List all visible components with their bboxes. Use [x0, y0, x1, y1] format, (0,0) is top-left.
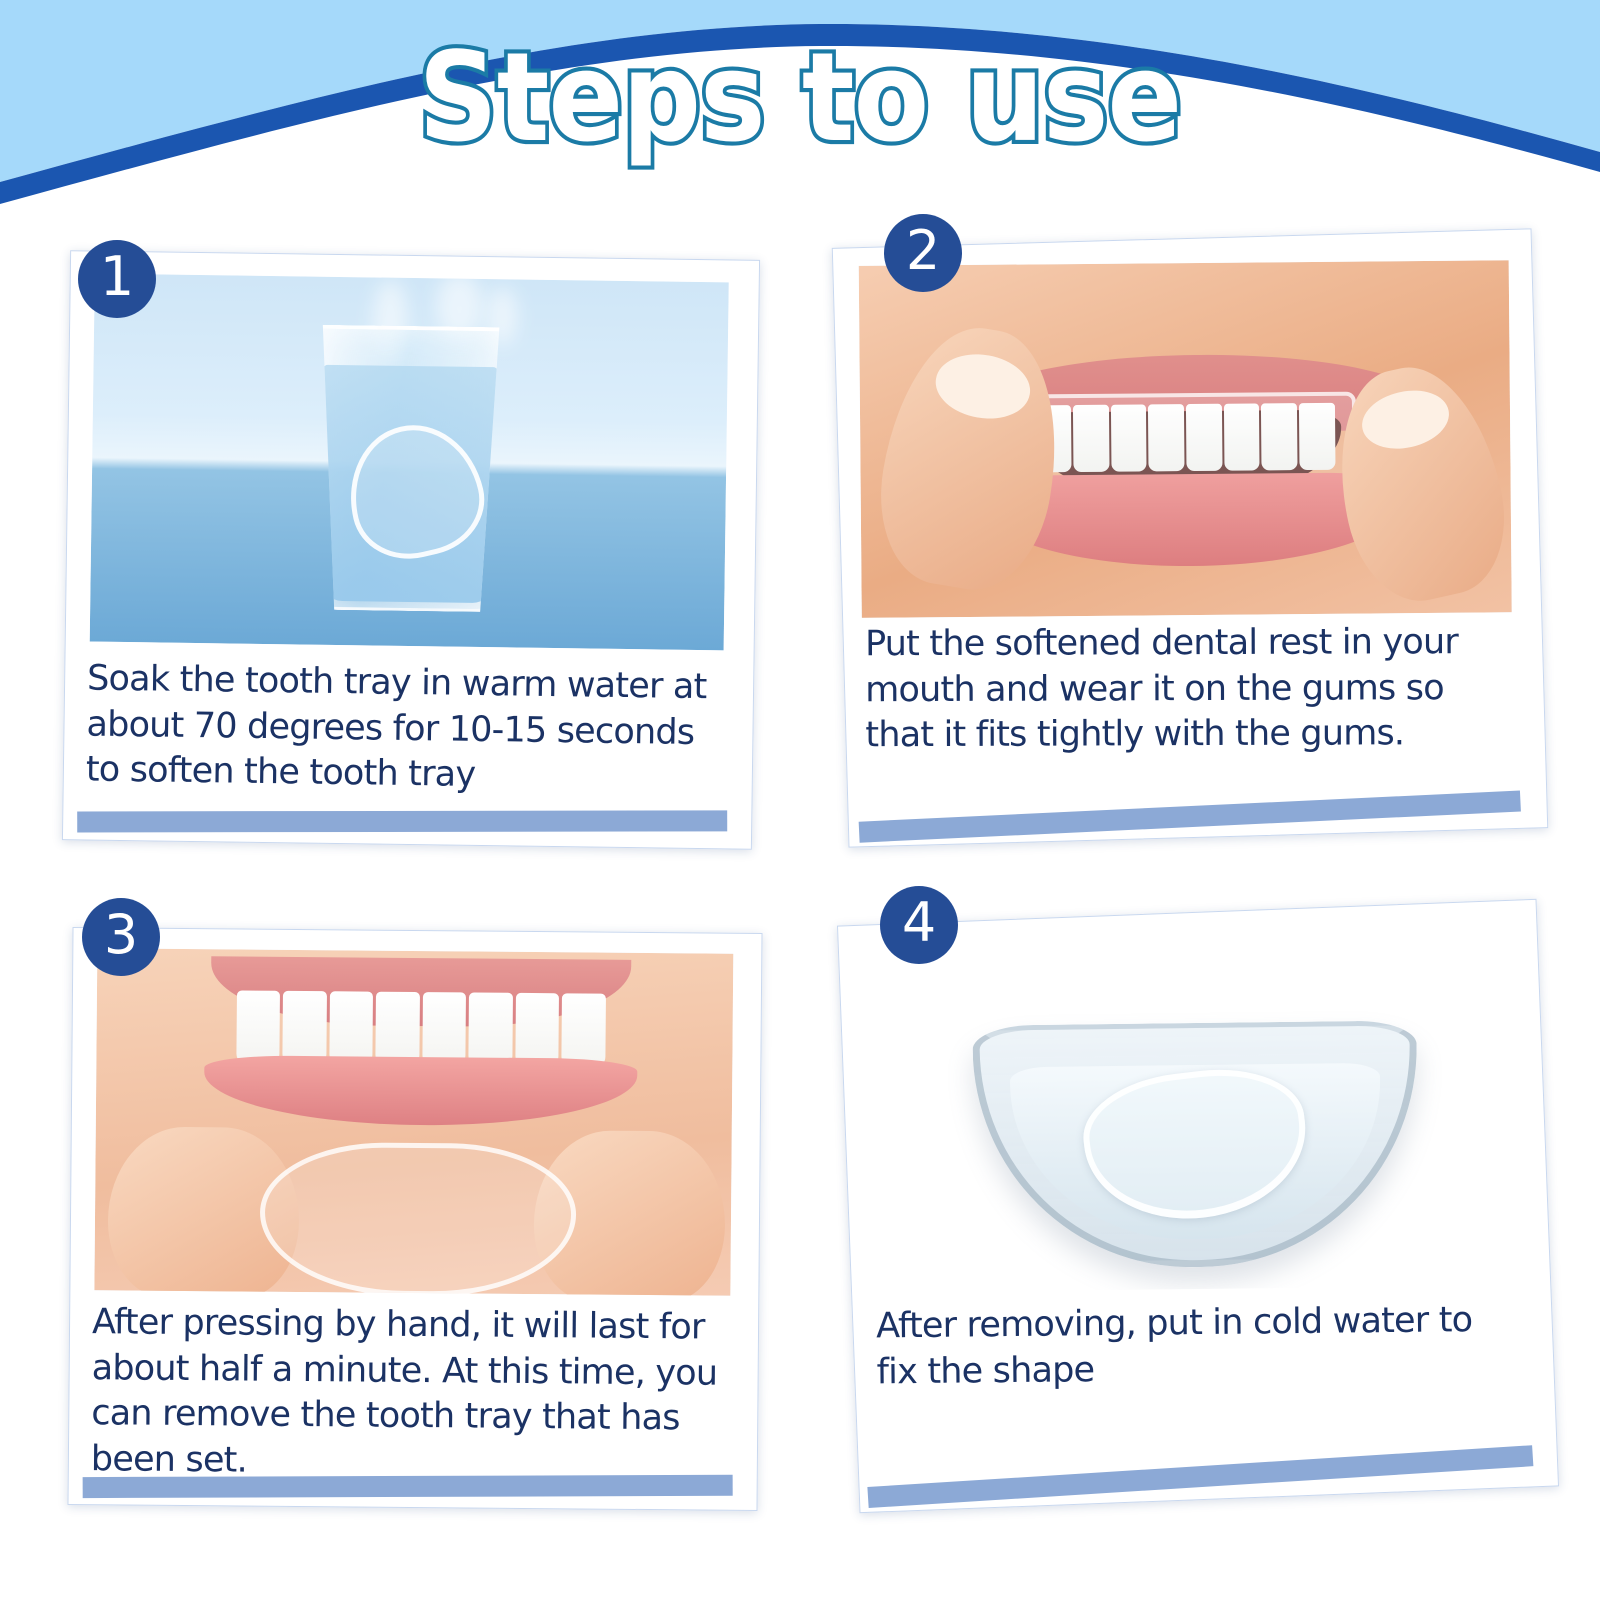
step-3-caption: After pressing by hand, it will last for…	[91, 1300, 733, 1488]
step-4-caption: After removing, put in cold water to fix…	[876, 1298, 1523, 1396]
water-glass	[311, 325, 507, 613]
step-1-accent-bar	[77, 810, 727, 832]
step-badge-3: 3	[82, 898, 160, 976]
fingernail	[931, 348, 1035, 425]
steps-grid: 1 Soak the tooth tray in warm water at a…	[0, 0, 1600, 1600]
step-card-4: After removing, put in cold water to fix…	[837, 899, 1559, 1513]
step-1-photo	[90, 274, 729, 651]
fingernail	[1357, 383, 1454, 456]
step-2-photo	[859, 260, 1512, 618]
page-title-wrap: Steps to use	[0, 34, 1600, 143]
step-3-photo	[94, 948, 733, 1296]
step-2-accent-bar	[859, 791, 1521, 843]
tooth-tray-held-in-hands	[260, 1141, 577, 1296]
step-badge-4: 4	[880, 886, 958, 964]
step-badge-1: 1	[78, 240, 156, 318]
step-card-1: Soak the tooth tray in warm water at abo…	[62, 250, 760, 850]
step-3-accent-bar	[83, 1475, 733, 1498]
step-2-caption: Put the softened dental rest in your mou…	[865, 620, 1513, 759]
page-title: Steps to use	[419, 34, 1182, 163]
step-card-2: Put the softened dental rest in your mou…	[832, 228, 1548, 847]
step-1-caption: Soak the tooth tray in warm water at abo…	[86, 656, 728, 801]
step-4-accent-bar	[867, 1445, 1533, 1508]
step-4-photo	[867, 935, 1523, 1293]
step-badge-2: 2	[884, 214, 962, 292]
step-card-3: After pressing by hand, it will last for…	[67, 927, 762, 1511]
